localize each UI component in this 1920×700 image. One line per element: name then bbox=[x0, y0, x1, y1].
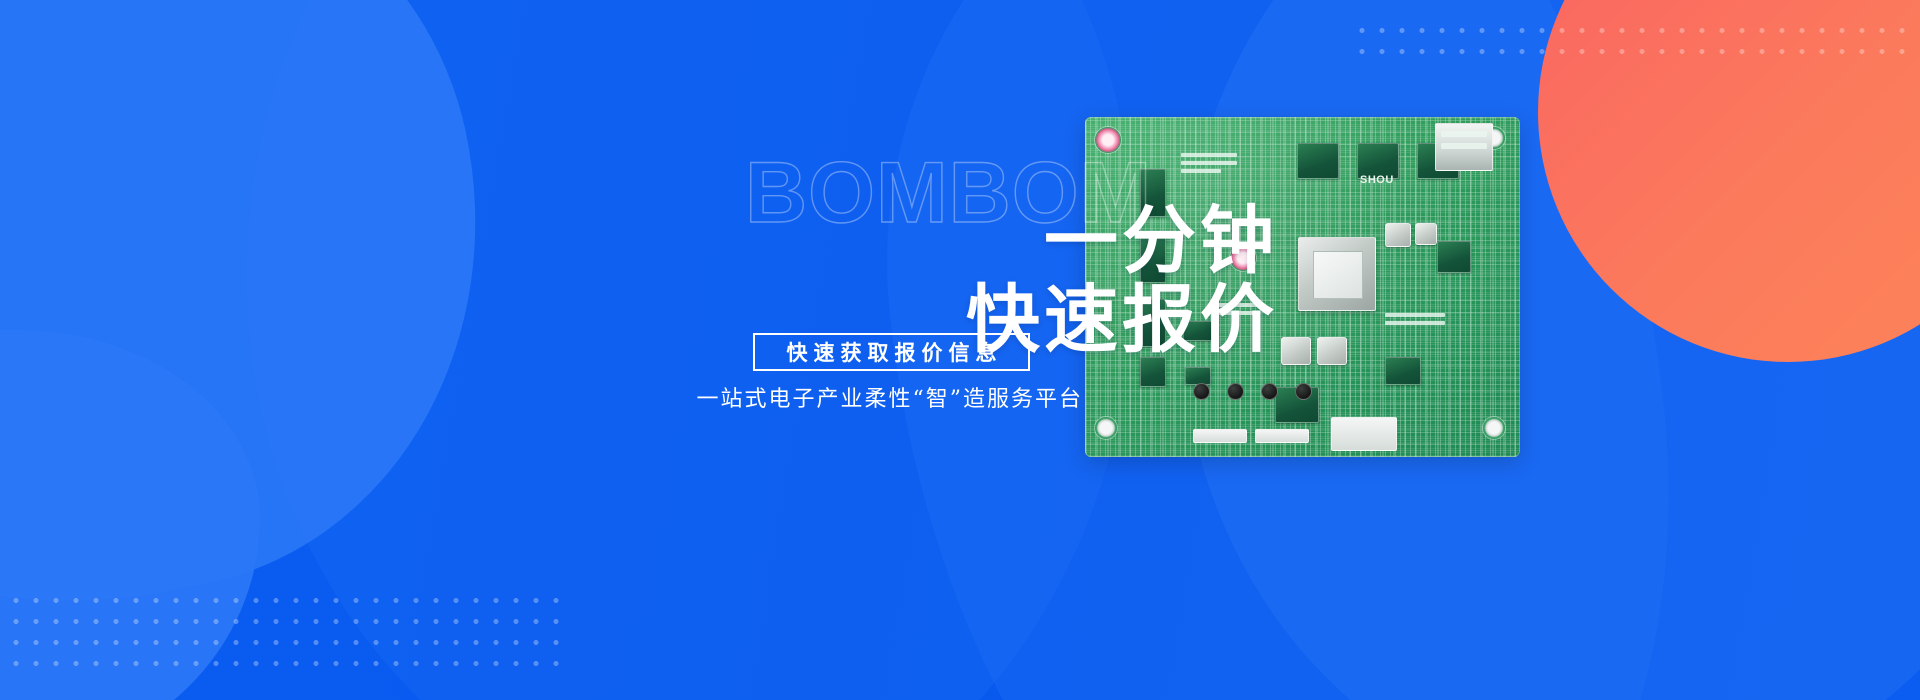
circuit-board-image: SHOU bbox=[1085, 117, 1520, 457]
pcb-silkscreen-label: SHOU bbox=[1360, 175, 1394, 186]
dot-grid-top-right-icon bbox=[1352, 20, 1912, 64]
dot-grid-bottom-left-icon bbox=[6, 590, 566, 676]
promo-banner: SHOU BOMBOM 一分钟 快速 bbox=[0, 0, 1920, 700]
